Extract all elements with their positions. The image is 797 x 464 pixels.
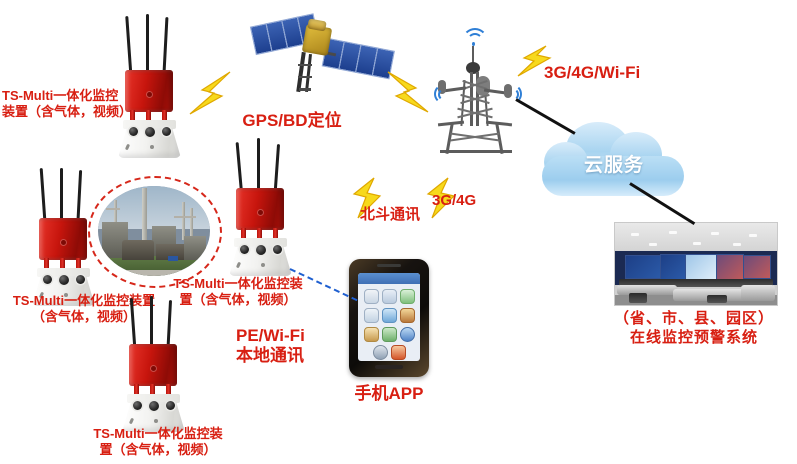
app-icon[interactable] <box>382 308 397 323</box>
app-icon[interactable] <box>391 345 406 360</box>
app-icon[interactable] <box>373 345 388 360</box>
sensor-port-icon <box>154 419 158 423</box>
pipe <box>106 208 120 210</box>
handheld-label: 手机APP <box>340 383 438 404</box>
console-cabinet <box>707 295 727 303</box>
control-room-photo <box>614 222 778 306</box>
video-wall-screen <box>685 254 717 280</box>
camera-lens-icon <box>76 275 85 284</box>
cell-tower-icon <box>424 18 528 160</box>
console-desk <box>741 285 775 301</box>
sensor-port-icon <box>150 145 154 149</box>
camera-lens-icon <box>273 245 282 254</box>
label-3g4g: 3G/4G <box>432 192 502 211</box>
device-red-housing <box>236 188 284 230</box>
diagram-canvas: TS-Multi一体化监控装置（含气体，视频） TS-Multi一体化监控装置（… <box>0 0 797 464</box>
camera-lens-icon <box>129 127 138 136</box>
industrial-plant-circle <box>88 176 222 288</box>
app-icon[interactable] <box>400 289 415 304</box>
pipe <box>174 216 196 218</box>
ts-multi-device-4[interactable] <box>108 296 200 436</box>
plant-building <box>184 236 206 260</box>
device-red-housing <box>129 344 177 386</box>
camera-lens-icon <box>149 401 159 411</box>
video-wall-screen <box>716 254 744 280</box>
app-icon[interactable] <box>400 308 415 323</box>
app-icon[interactable] <box>364 308 379 323</box>
app-icon[interactable] <box>382 289 397 304</box>
video-wall-screen <box>660 254 686 280</box>
device-red-housing <box>39 218 87 260</box>
pda-status-bar <box>358 273 420 284</box>
satellite-boom <box>296 52 306 92</box>
camera-lens-icon <box>240 245 249 254</box>
cloud-label: 云服务 <box>584 150 644 177</box>
device-label-4: TS-Multi一体化监控装置（含气体，视频） <box>72 426 244 459</box>
handheld-terminal-icon[interactable] <box>349 259 429 377</box>
sensor-port-icon <box>261 263 265 267</box>
camera-lens-icon <box>166 401 175 410</box>
camera-lens-icon <box>145 127 155 137</box>
label-gps: GPS/BD定位 <box>222 110 362 131</box>
wifi-icon <box>438 88 451 101</box>
pda-screen[interactable] <box>358 273 420 361</box>
chimney <box>182 202 185 240</box>
satellite-icon <box>246 8 396 108</box>
camera-lens-icon <box>133 401 142 410</box>
control-center-label: （省、市、县、园区）在线监控预警系统 <box>594 310 794 348</box>
app-icon[interactable] <box>382 327 397 342</box>
label-beidou: 北斗通讯 <box>348 206 432 225</box>
chimney <box>142 188 147 246</box>
app-icon[interactable] <box>364 327 379 342</box>
camera-lens-icon <box>43 275 52 284</box>
cloud-icon[interactable]: 云服务 <box>540 122 688 200</box>
lightning-bolt-icon-gps-down <box>382 70 432 116</box>
plant-vehicle <box>168 256 178 261</box>
app-icon[interactable] <box>400 327 415 342</box>
device-label-1: TS-Multi一体化监控装置（含气体，视频） <box>2 88 142 121</box>
satellite-boom <box>305 54 312 92</box>
ts-multi-device-3[interactable] <box>215 138 307 278</box>
plant-building <box>122 240 154 260</box>
wifi-icon <box>467 33 483 49</box>
console-cabinet <box>629 293 647 303</box>
label-3g4g-wifi: 3G/4G/Wi-Fi <box>544 62 684 83</box>
video-wall-screen <box>743 255 771 279</box>
label-local-comm: PE/Wi-Fi本地通讯 <box>236 326 356 365</box>
camera-lens-icon <box>162 127 171 136</box>
camera-lens-icon <box>256 245 266 255</box>
industrial-plant-photo <box>98 186 210 276</box>
app-icon[interactable] <box>364 289 379 304</box>
video-wall-screen <box>625 255 661 279</box>
console-desk <box>617 285 677 295</box>
ts-multi-device-1[interactable] <box>104 14 196 160</box>
camera-lens-icon <box>59 275 69 285</box>
